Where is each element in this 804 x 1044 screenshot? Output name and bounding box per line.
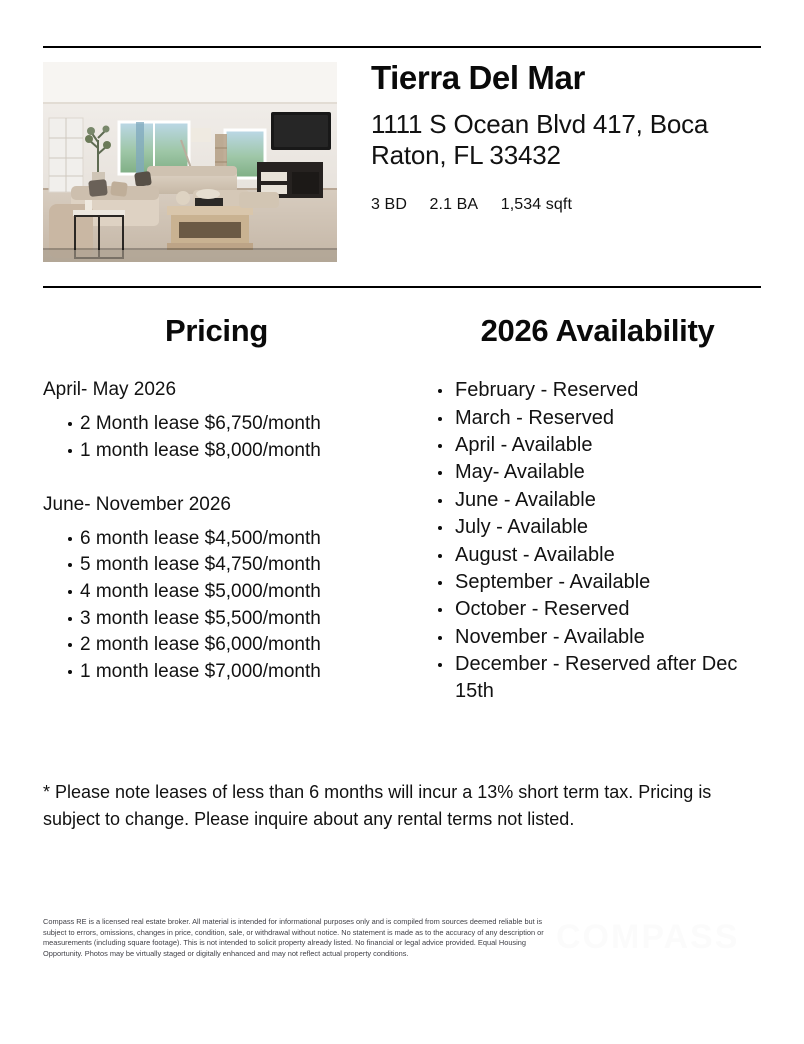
list-item: April - Available — [420, 432, 775, 459]
divider-top — [43, 46, 761, 48]
list-item: August - Available — [420, 542, 775, 569]
pricing-section: Pricing April- May 2026 2 Month lease $6… — [43, 312, 398, 685]
list-item: 5 month lease $4,750/month — [43, 552, 398, 579]
property-address: 1111 S Ocean Blvd 417, Boca Raton, FL 33… — [371, 109, 761, 170]
availability-section: 2026 Availability February - Reserved Ma… — [420, 312, 775, 706]
list-item: 1 month lease $7,000/month — [43, 659, 398, 686]
list-item: June - Available — [420, 487, 775, 514]
list-item: December - Reserved after Dec 15th — [420, 651, 775, 706]
pricing-footnote: * Please note leases of less than 6 mont… — [43, 779, 759, 834]
pricing-list-spring: 2 Month lease $6,750/month 1 month lease… — [43, 411, 398, 464]
list-item: November - Available — [420, 624, 775, 651]
divider-middle — [43, 286, 761, 288]
brand-watermark: COMPASS — [556, 918, 739, 957]
listing-page: Tierra Del Mar 1111 S Ocean Blvd 417, Bo… — [0, 0, 804, 1044]
list-item: 3 month lease $5,500/month — [43, 606, 398, 633]
availability-heading: 2026 Availability — [420, 312, 775, 349]
page-title: Tierra Del Mar — [371, 60, 761, 97]
property-photo — [43, 62, 337, 262]
list-item: 6 month lease $4,500/month — [43, 526, 398, 553]
property-header: Tierra Del Mar 1111 S Ocean Blvd 417, Bo… — [371, 60, 761, 214]
pricing-group-label: June- November 2026 — [43, 493, 398, 517]
stat-square-feet: 1,534 sqft — [501, 196, 572, 213]
list-item: 2 Month lease $6,750/month — [43, 411, 398, 438]
list-item: July - Available — [420, 514, 775, 541]
living-room-illustration — [43, 62, 337, 262]
stat-bedrooms: 3 BD — [371, 196, 407, 213]
list-item: March - Reserved — [420, 405, 775, 432]
list-item: 1 month lease $8,000/month — [43, 438, 398, 465]
pricing-group-label: April- May 2026 — [43, 378, 398, 402]
property-stats: 3 BD 2.1 BA 1,534 sqft — [371, 196, 761, 214]
list-item: 2 month lease $6,000/month — [43, 632, 398, 659]
list-item: 4 month lease $5,000/month — [43, 579, 398, 606]
pricing-list-summer: 6 month lease $4,500/month 5 month lease… — [43, 526, 398, 686]
list-item: February - Reserved — [420, 377, 775, 404]
stat-bathrooms: 2.1 BA — [430, 196, 479, 213]
list-item: October - Reserved — [420, 596, 775, 623]
list-item: September - Available — [420, 569, 775, 596]
availability-list: February - Reserved March - Reserved Apr… — [420, 377, 775, 706]
list-item: May- Available — [420, 459, 775, 486]
pricing-heading: Pricing — [43, 312, 398, 349]
legal-disclaimer: Compass RE is a licensed real estate bro… — [43, 917, 555, 959]
